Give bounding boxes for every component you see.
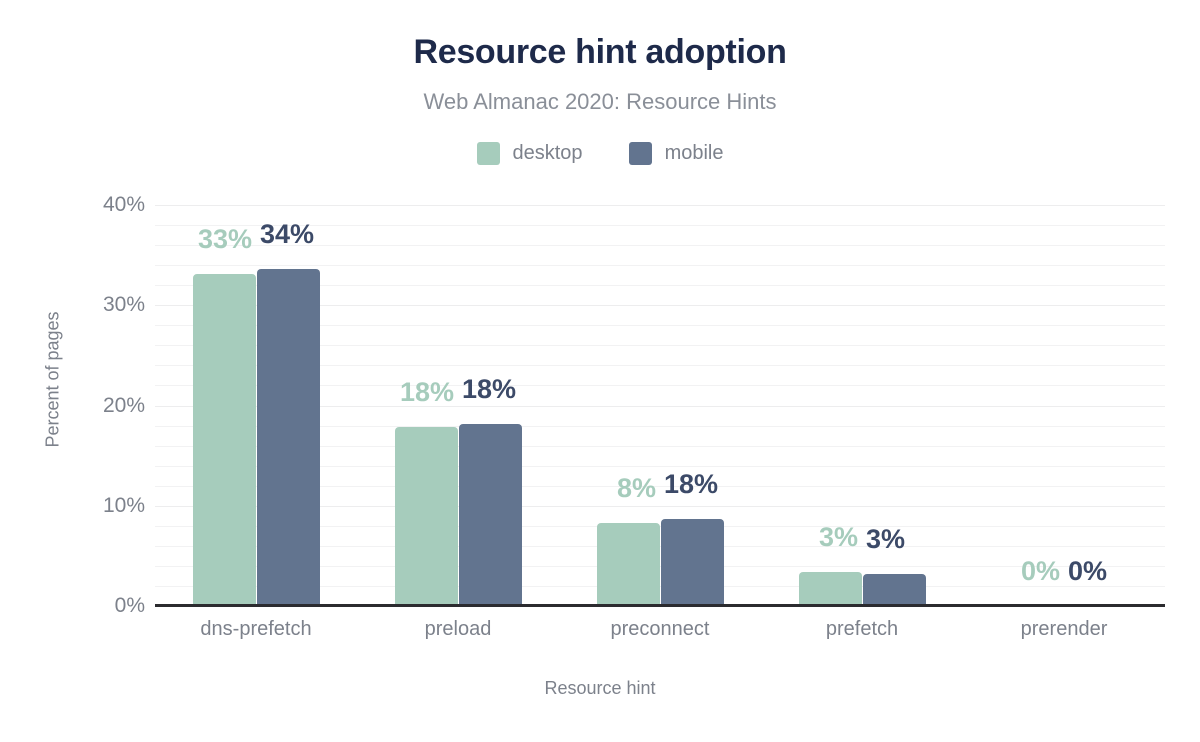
legend-swatch-mobile	[629, 142, 652, 165]
plot-area: 33%34%18%18%8%18%3%3%0%0%	[155, 205, 1165, 606]
bar-group: 0%0%	[155, 205, 1165, 606]
x-axis-line	[155, 604, 1165, 607]
x-axis-title: Resource hint	[0, 678, 1200, 699]
legend-swatch-desktop	[477, 142, 500, 165]
y-axis-tick-label: 40%	[75, 193, 145, 217]
x-axis-tick-preload: preload	[425, 618, 492, 641]
chart-subtitle: Web Almanac 2020: Resource Hints	[0, 89, 1200, 115]
bar-value-label-prerender-mobile: 0%	[1068, 556, 1124, 587]
chart-legend: desktop mobile	[0, 142, 1200, 165]
y-axis-tick-label: 20%	[75, 394, 145, 418]
y-axis-title: Percent of pages	[43, 280, 64, 480]
y-axis-tick-label: 0%	[75, 594, 145, 618]
x-axis-tick-dns-prefetch: dns-prefetch	[200, 618, 311, 641]
y-axis-tick-label: 10%	[75, 494, 145, 518]
legend-item-mobile[interactable]: mobile	[629, 142, 724, 165]
bar-value-label-prerender-desktop: 0%	[1004, 556, 1060, 587]
chart-title: Resource hint adoption	[0, 33, 1200, 72]
bar-chart: Resource hint adoption Web Almanac 2020:…	[0, 0, 1200, 742]
y-axis-ticks: 0%10%20%30%40%	[75, 205, 145, 606]
legend-label-mobile: mobile	[665, 142, 724, 165]
y-axis-tick-label: 30%	[75, 293, 145, 317]
legend-item-desktop[interactable]: desktop	[477, 142, 583, 165]
x-axis-tick-preconnect: preconnect	[611, 618, 710, 641]
x-axis-tick-prefetch: prefetch	[826, 618, 898, 641]
x-axis-tick-prerender: prerender	[1021, 618, 1108, 641]
legend-label-desktop: desktop	[513, 142, 583, 165]
